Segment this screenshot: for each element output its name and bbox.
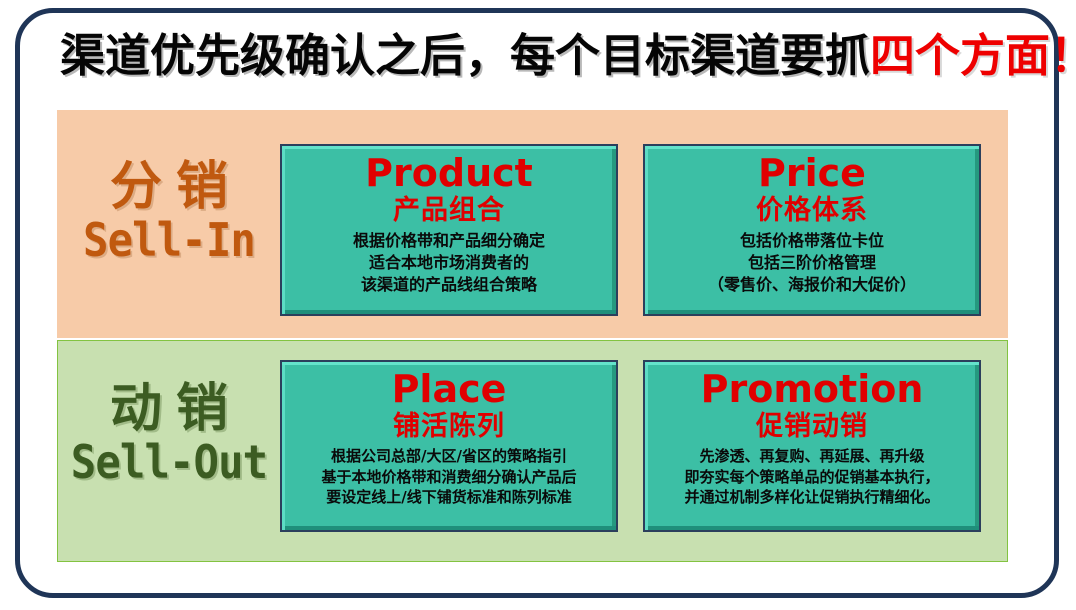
card-place-body: 根据公司总部/大区/省区的策略指引 基于本地价格带和消费细分确认产品后 要设定线…: [321, 446, 576, 508]
card-product-body: 根据价格带和产品细分确定 适合本地市场消费者的 该渠道的产品线组合策略: [353, 230, 545, 296]
card-price-title-cn: 价格体系: [756, 195, 868, 226]
card-place-body-line-1: 根据公司总部/大区/省区的策略指引: [321, 446, 576, 467]
card-promotion-body-line-1: 先渗透、再复购、再延展、再升级: [684, 446, 939, 467]
card-promotion-title-cn: 促销动销: [756, 411, 868, 442]
row-label-sell-out-chinese: 动销: [58, 383, 280, 435]
card-promotion-body-line-2: 即夯实每个策略单品的促销基本执行，: [684, 467, 939, 488]
card-promotion[interactable]: Promotion 促销动销 先渗透、再复购、再延展、再升级 即夯实每个策略单品…: [643, 360, 981, 532]
card-promotion-body: 先渗透、再复购、再延展、再升级 即夯实每个策略单品的促销基本执行， 并通过机制多…: [684, 446, 939, 508]
card-place-title-en: Place: [392, 370, 507, 410]
card-price-body-line-1: 包括价格带落位卡位: [708, 230, 916, 252]
card-place-title-cn: 铺活陈列: [393, 411, 505, 442]
row-label-sell-out: 动销 Sell-Out: [58, 383, 280, 485]
row-label-sell-in-chinese: 分销: [58, 161, 280, 213]
card-price-body: 包括价格带落位卡位 包括三阶价格管理 （零售价、海报价和大促价）: [708, 230, 916, 296]
card-price-body-line-3: （零售价、海报价和大促价）: [708, 274, 916, 296]
page-title: 渠道优先级确认之后，每个目标渠道要抓四个方面！: [60, 20, 1020, 90]
card-promotion-body-line-3: 并通过机制多样化让促销执行精细化。: [684, 487, 939, 508]
row-label-sell-in-english: Sell-In: [67, 217, 271, 263]
row-label-sell-out-english: Sell-Out: [67, 439, 271, 485]
slide-canvas: 渠道优先级确认之后，每个目标渠道要抓四个方面！ 分销 Sell-In 动销 Se…: [0, 0, 1076, 610]
card-promotion-title-en: Promotion: [701, 370, 924, 410]
page-title-red-text: 四个方面！: [870, 33, 1076, 78]
card-product-body-line-2: 适合本地市场消费者的: [353, 252, 545, 274]
card-price-body-line-2: 包括三阶价格管理: [708, 252, 916, 274]
card-place-body-line-3: 要设定线上/线下铺货标准和陈列标准: [321, 487, 576, 508]
card-product-title-en: Product: [365, 154, 533, 194]
card-place[interactable]: Place 铺活陈列 根据公司总部/大区/省区的策略指引 基于本地价格带和消费细…: [280, 360, 618, 532]
row-label-sell-in: 分销 Sell-In: [58, 161, 280, 263]
card-product[interactable]: Product 产品组合 根据价格带和产品细分确定 适合本地市场消费者的 该渠道…: [280, 144, 618, 316]
page-title-black-text: 渠道优先级确认之后，每个目标渠道要抓: [60, 33, 870, 78]
card-price-title-en: Price: [758, 154, 866, 194]
card-product-body-line-3: 该渠道的产品线组合策略: [353, 274, 545, 296]
card-price[interactable]: Price 价格体系 包括价格带落位卡位 包括三阶价格管理 （零售价、海报价和大…: [643, 144, 981, 316]
card-product-title-cn: 产品组合: [393, 195, 505, 226]
card-product-body-line-1: 根据价格带和产品细分确定: [353, 230, 545, 252]
card-place-body-line-2: 基于本地价格带和消费细分确认产品后: [321, 467, 576, 488]
